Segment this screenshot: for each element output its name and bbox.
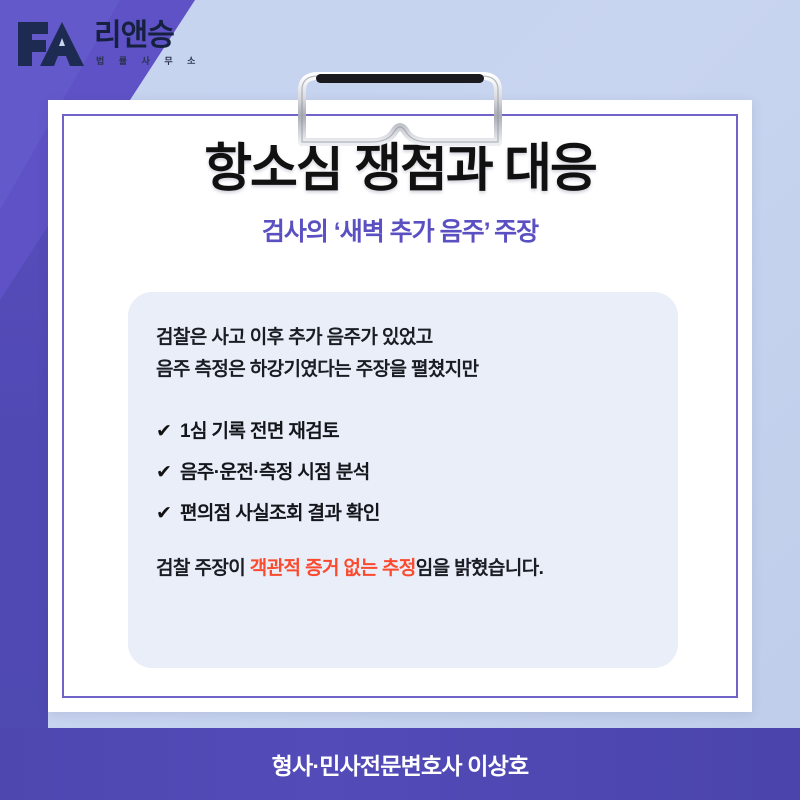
law-firm-monogram-icon <box>14 18 88 70</box>
conclusion-line: 검찰 주장이 객관적 증거 없는 추정임을 밝혔습니다. <box>156 553 650 580</box>
check-icon: ✔ <box>156 502 180 525</box>
brand-logo: 리앤승 법 률 사 무 소 <box>14 18 214 80</box>
conclusion-prefix: 검찰 주장이 <box>156 558 250 579</box>
checklist: ✔ 1심 기록 전면 재검토 ✔ 음주·운전·측정 시점 분석 ✔ 편의점 사실… <box>156 416 650 525</box>
check-icon: ✔ <box>156 420 180 443</box>
clipboard-clip <box>288 68 512 146</box>
brand-tagline: 법 률 사 무 소 <box>96 54 201 67</box>
footer-bar: 형사·민사전문변호사 이상호 <box>0 728 800 800</box>
brand-name: 리앤승 <box>94 20 201 52</box>
list-item-label: 편의점 사실조회 결과 확인 <box>180 498 380 525</box>
list-item: ✔ 1심 기록 전면 재검토 <box>156 416 650 443</box>
intro-paragraph: 검찰은 사고 이후 추가 음주가 있었고 음주 측정은 하강기였다는 주장을 펼… <box>156 322 650 386</box>
page-title: 항소심 쟁점과 대응 <box>48 140 752 198</box>
page-subtitle: 검사의 ‘새벽 추가 음주’ 주장 <box>48 212 752 248</box>
infographic-card: 리앤승 법 률 사 무 소 항소심 쟁점과 대응 검사의 ‘새벽 추가 음주’ … <box>0 0 800 800</box>
content-panel: 검찰은 사고 이후 추가 음주가 있었고 음주 측정은 하강기였다는 주장을 펼… <box>128 292 678 668</box>
conclusion-suffix: 임을 밝혔습니다. <box>416 558 544 579</box>
check-icon: ✔ <box>156 461 180 484</box>
footer-text: 형사·민사전문변호사 이상호 <box>272 747 529 781</box>
list-item-label: 1심 기록 전면 재검토 <box>180 416 339 443</box>
list-item: ✔ 편의점 사실조회 결과 확인 <box>156 498 650 525</box>
intro-line-1: 검찰은 사고 이후 추가 음주가 있었고 <box>156 322 650 354</box>
headline-block: 항소심 쟁점과 대응 검사의 ‘새벽 추가 음주’ 주장 <box>48 140 752 248</box>
list-item: ✔ 음주·운전·측정 시점 분석 <box>156 457 650 484</box>
intro-line-2: 음주 측정은 하강기였다는 주장을 펼쳤지만 <box>156 354 650 386</box>
list-item-label: 음주·운전·측정 시점 분석 <box>180 457 370 484</box>
clipboard-clip-icon <box>288 68 512 146</box>
conclusion-highlight: 객관적 증거 없는 추정 <box>250 558 416 579</box>
